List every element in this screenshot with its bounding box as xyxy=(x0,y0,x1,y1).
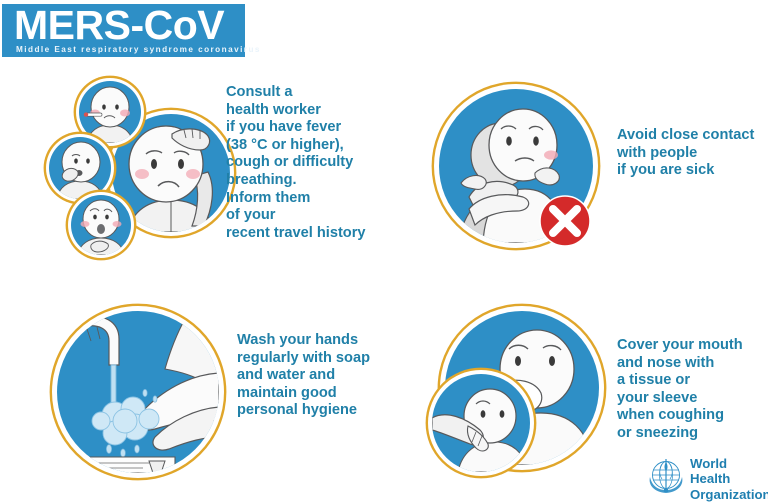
breathing-difficulty-icon xyxy=(71,195,131,255)
handwashing-icon xyxy=(57,311,219,473)
who-emblem-icon xyxy=(646,455,686,495)
who-logo-text: World Health Organization xyxy=(690,456,768,502)
illustration-hands-washing xyxy=(52,306,224,478)
tip-text-avoid-close-contact: Avoid close contact with people if you a… xyxy=(617,127,768,180)
cough-icon xyxy=(49,137,111,199)
tip-text-wash-your-hands: Wash your hands regularly with soap and … xyxy=(237,332,407,420)
tip-text-consult-health-worker: Consult a health worker if you have feve… xyxy=(226,84,396,242)
header-band: MERS-CoV Middle East respiratory syndrom… xyxy=(2,4,245,57)
elbow-cough-icon xyxy=(432,374,530,472)
infographic-canvas: MERS-CoV Middle East respiratory syndrom… xyxy=(0,0,768,500)
page-subtitle: Middle East respiratory syndrome coronav… xyxy=(16,45,261,54)
who-logo: World Health Organization xyxy=(646,455,766,497)
fever-thermometer-icon xyxy=(79,81,141,143)
sub-illustration-difficulty-breathing xyxy=(68,192,134,258)
page-title: MERS-CoV xyxy=(14,3,224,47)
red-x-prohibition-icon xyxy=(539,195,591,247)
sub-illustration-cough-into-elbow xyxy=(428,370,534,476)
tip-text-cover-mouth-and-nose: Cover your mouth and nose with a tissue … xyxy=(617,337,768,443)
